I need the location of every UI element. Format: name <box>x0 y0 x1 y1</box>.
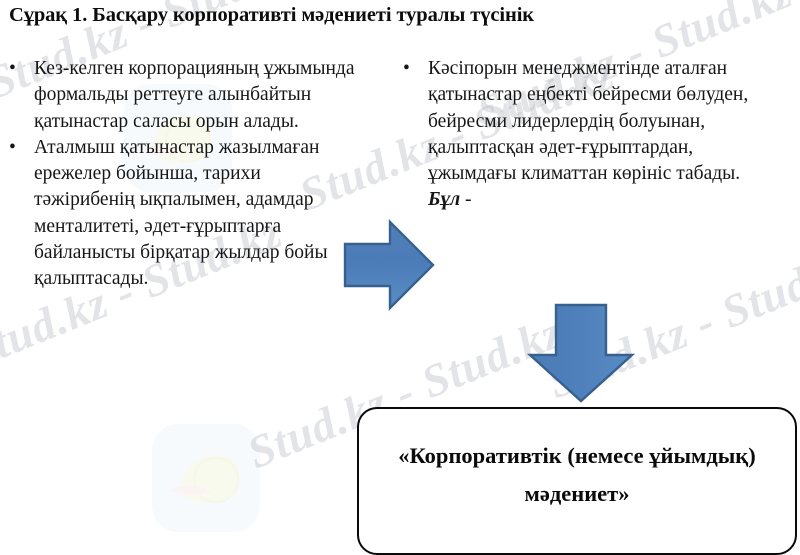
list-item: • Кәсіпорын менеджментінде аталған қатын… <box>398 56 770 214</box>
stud-kz-logo-icon <box>146 418 266 538</box>
list-item-text: Кәсіпорын менеджментінде аталған қатынас… <box>428 58 748 184</box>
list-item-emphasis: Бұл <box>428 189 460 210</box>
bullet-icon: • <box>9 135 16 161</box>
right-arrow-icon <box>343 219 435 311</box>
list-item-text: Аталмыш қатынастар жазылмаған ережелер б… <box>34 137 328 289</box>
list-item: • Кез-келген корпорацияның ұжымында форм… <box>4 56 356 135</box>
right-text-column: • Кәсіпорын менеджментінде аталған қатын… <box>398 56 770 214</box>
concept-box-text: «Корпоративтік (немесе ұйымдық) мәдениет… <box>391 437 763 513</box>
list-item: • Аталмыш қатынастар жазылмаған ережелер… <box>4 135 356 293</box>
list-item-text: Кез-келген корпорацияның ұжымында формал… <box>34 58 354 132</box>
page-title: Сұрақ 1. Басқару корпоративті мәдениеті … <box>9 2 791 28</box>
bullet-icon: • <box>9 56 16 82</box>
concept-box: «Корпоративтік (немесе ұйымдық) мәдениет… <box>357 407 797 555</box>
left-text-column: • Кез-келген корпорацияның ұжымында форм… <box>4 56 356 293</box>
down-arrow-icon <box>527 302 635 404</box>
list-item-text-tail: - <box>460 189 471 210</box>
bullet-icon: • <box>403 56 410 82</box>
